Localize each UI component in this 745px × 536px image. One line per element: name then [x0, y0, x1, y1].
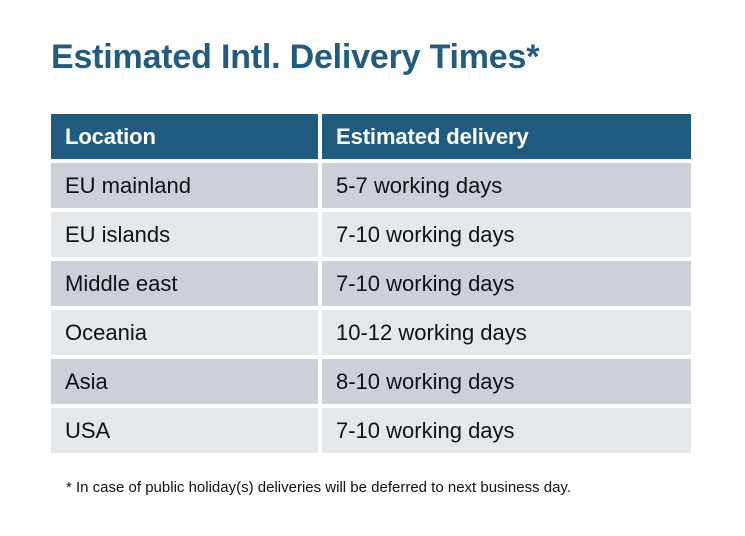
table-row: EU islands 7-10 working days [51, 212, 691, 257]
table-row: Asia 8-10 working days [51, 359, 691, 404]
table-row: Oceania 10-12 working days [51, 310, 691, 355]
cell-estimated-delivery: 7-10 working days [322, 261, 691, 306]
table-header-row: Location Estimated delivery [51, 114, 691, 159]
column-header-location: Location [51, 114, 318, 159]
column-header-estimated-delivery: Estimated delivery [322, 114, 691, 159]
cell-location: EU mainland [51, 163, 318, 208]
cell-location: Middle east [51, 261, 318, 306]
estimated-delivery-times-table: Location Estimated delivery EU mainland … [51, 114, 691, 457]
footnote-text: * In case of public holiday(s) deliverie… [66, 479, 571, 496]
page-title: Estimated Intl. Delivery Times* [51, 38, 539, 77]
cell-estimated-delivery: 10-12 working days [322, 310, 691, 355]
cell-estimated-delivery: 8-10 working days [322, 359, 691, 404]
delivery-times-page: Estimated Intl. Delivery Times* Location… [0, 0, 745, 536]
table-row: Middle east 7-10 working days [51, 261, 691, 306]
cell-location: Oceania [51, 310, 318, 355]
table-row: USA 7-10 working days [51, 408, 691, 453]
cell-location: Asia [51, 359, 318, 404]
cell-location: EU islands [51, 212, 318, 257]
cell-estimated-delivery: 7-10 working days [322, 408, 691, 453]
cell-estimated-delivery: 5-7 working days [322, 163, 691, 208]
cell-location: USA [51, 408, 318, 453]
cell-estimated-delivery: 7-10 working days [322, 212, 691, 257]
table-row: EU mainland 5-7 working days [51, 163, 691, 208]
